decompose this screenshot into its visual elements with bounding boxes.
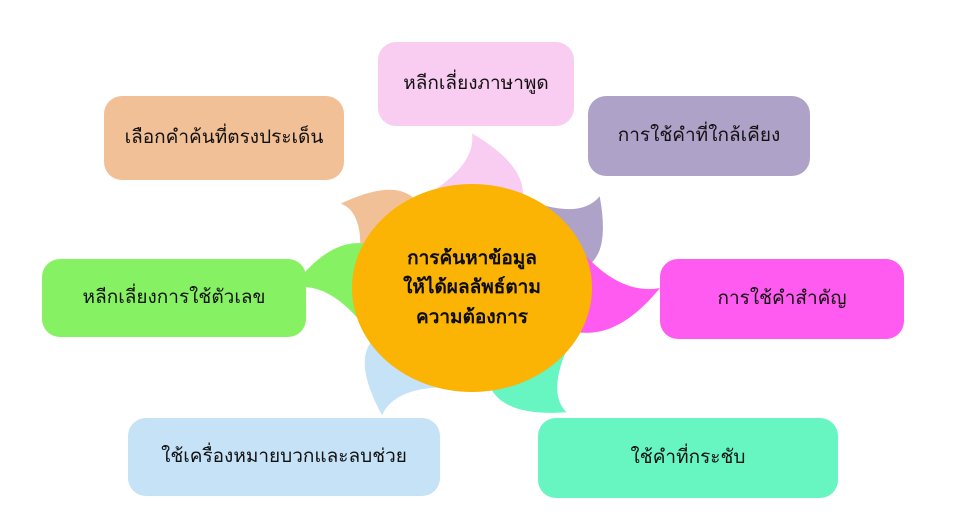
center-line-2: ให้ได้ผลลัพธ์ตาม — [403, 273, 541, 302]
node-label: ใช้คำที่กระชับ — [631, 446, 746, 470]
node-label: เลือกคำค้นที่ตรงประเด็น — [125, 126, 324, 150]
node-label: การใช้คำสำคัญ — [717, 287, 846, 311]
node-label: ใช้เครื่องหมายบวกและลบช่วย — [161, 445, 407, 469]
node-use-plus-minus-signs[interactable]: ใช้เครื่องหมายบวกและลบช่วย — [128, 418, 440, 496]
node-avoid-numbers[interactable]: หลีกเลี่ยงการใช้ตัวเลข — [42, 259, 306, 337]
node-use-concise-words[interactable]: ใช้คำที่กระชับ — [538, 418, 838, 498]
node-choose-relevant-keywords[interactable]: เลือกคำค้นที่ตรงประเด็น — [104, 96, 344, 180]
node-label: หลีกเลี่ยงภาษาพูด — [403, 72, 548, 96]
node-label: การใช้คำที่ใกล้เคียง — [618, 124, 781, 148]
radial-diagram-canvas: เลือกคำค้นที่ตรงประเด็น หลีกเลี่ยงภาษาพู… — [0, 0, 980, 515]
center-line-1: การค้นหาข้อมูล — [407, 244, 537, 273]
node-label: หลีกเลี่ยงการใช้ตัวเลข — [83, 286, 266, 310]
node-use-keywords[interactable]: การใช้คำสำคัญ — [660, 259, 904, 339]
node-avoid-spoken-language[interactable]: หลีกเลี่ยงภาษาพูด — [378, 42, 574, 126]
node-use-similar-words[interactable]: การใช้คำที่ใกล้เคียง — [588, 96, 810, 176]
center-line-3: ความต้องการ — [416, 303, 528, 332]
center-hub[interactable]: การค้นหาข้อมูล ให้ได้ผลลัพธ์ตาม ความต้อง… — [352, 184, 592, 392]
